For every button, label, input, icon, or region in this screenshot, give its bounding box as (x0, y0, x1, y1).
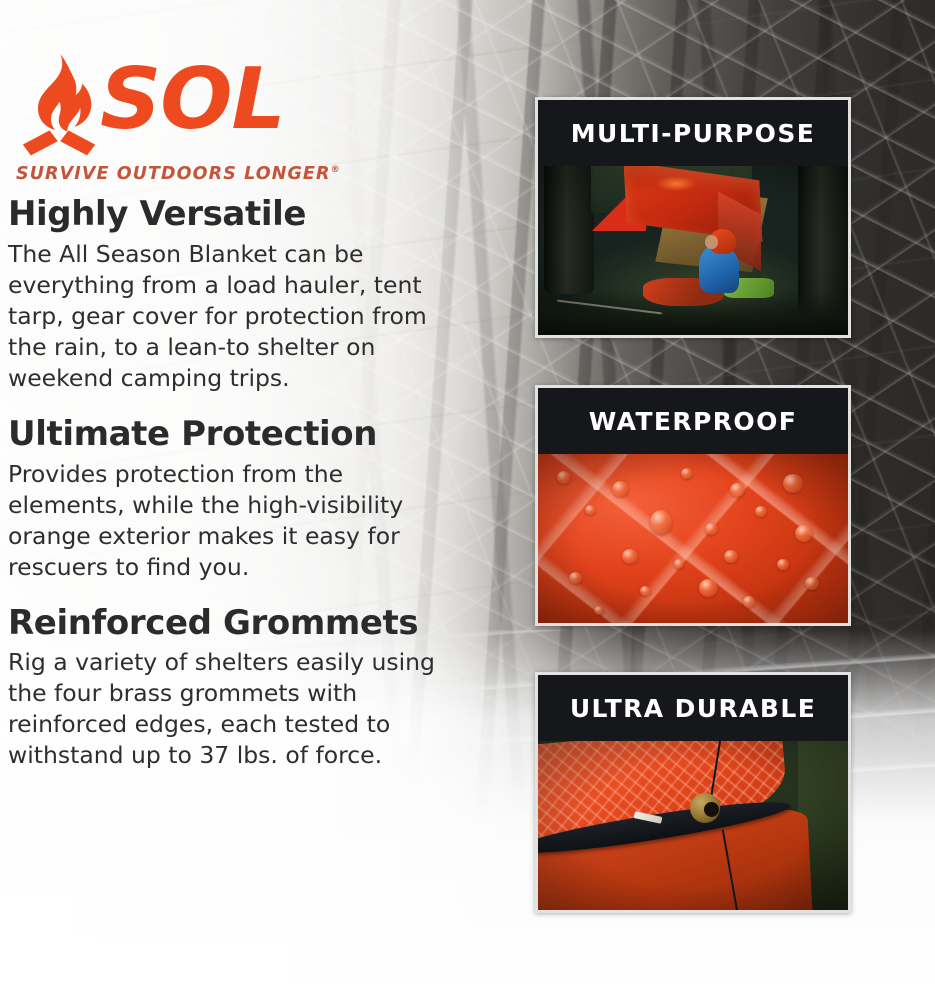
photo-water-bead (640, 586, 651, 596)
photo-water-bead (557, 471, 571, 484)
card-banner: ULTRA DURABLE (538, 675, 848, 741)
feature-body: The All Season Blanket can be everything… (8, 239, 460, 394)
photo-water-bead (777, 559, 789, 570)
feature-block-versatile: Highly Versatile The All Season Blanket … (8, 196, 468, 394)
photo-water-bead (743, 596, 755, 608)
photo-tree-left (544, 166, 594, 294)
photo-water-bead (805, 577, 819, 590)
feature-card-waterproof: WATERPROOF (535, 385, 851, 626)
card-banner: MULTI-PURPOSE (538, 100, 848, 166)
registered-mark: ® (331, 165, 341, 175)
photo-water-bead (795, 525, 813, 542)
brand-logo: SOL SURVIVE OUTDOORS LONGER® (8, 52, 468, 192)
feature-title: Highly Versatile (8, 196, 468, 233)
brand-wordmark: SOL (100, 57, 285, 142)
photo-tarp-highlight (656, 176, 696, 191)
feature-panel: SOL SURVIVE OUTDOORS LONGER® Highly Vers… (0, 0, 935, 1000)
card-photo-shelter (538, 166, 848, 335)
feature-block-grommets: Reinforced Grommets Rig a variety of she… (8, 605, 468, 772)
photo-water-bead (674, 559, 684, 569)
photo-water-bead (783, 474, 803, 493)
photo-water-bead (650, 510, 672, 535)
card-label: WATERPROOF (589, 407, 797, 436)
photo-water-bead (612, 481, 629, 497)
brand-tagline: SURVIVE OUTDOORS LONGER® (16, 164, 341, 184)
photo-water-bead (569, 572, 582, 584)
feature-block-protection: Ultimate Protection Provides protection … (8, 416, 468, 583)
card-label: ULTRA DURABLE (570, 694, 816, 723)
photo-water-bead (730, 483, 745, 497)
photo-water-bead (681, 468, 693, 479)
photo-water-bead (705, 523, 718, 535)
feature-card-multi-purpose: MULTI-PURPOSE (535, 97, 851, 338)
card-photo-waterproof (538, 454, 848, 623)
feature-title: Ultimate Protection (8, 416, 468, 453)
feature-title: Reinforced Grommets (8, 605, 468, 642)
card-label: MULTI-PURPOSE (571, 119, 815, 148)
brand-tagline-text: SURVIVE OUTDOORS LONGER (16, 164, 331, 184)
feature-body: Provides protection from the elements, w… (8, 459, 460, 583)
feature-body: Rig a variety of shelters easily using t… (8, 647, 460, 771)
feature-card-ultra-durable: ULTRA DURABLE (535, 672, 851, 913)
photo-camper-face (705, 235, 717, 249)
photo-water-bead (594, 606, 604, 615)
campfire-flame-icon (16, 52, 102, 170)
photo-water-bead (622, 549, 638, 564)
photo-water-bead (755, 506, 767, 517)
photo-water-bead (585, 505, 596, 515)
card-banner: WATERPROOF (538, 388, 848, 454)
feature-text-column: SOL SURVIVE OUTDOORS LONGER® Highly Vers… (8, 52, 468, 771)
photo-water-bead (699, 579, 718, 597)
card-photo-grommet (538, 741, 848, 910)
photo-water-bead (724, 550, 738, 563)
photo-grommet-hole (704, 802, 719, 817)
